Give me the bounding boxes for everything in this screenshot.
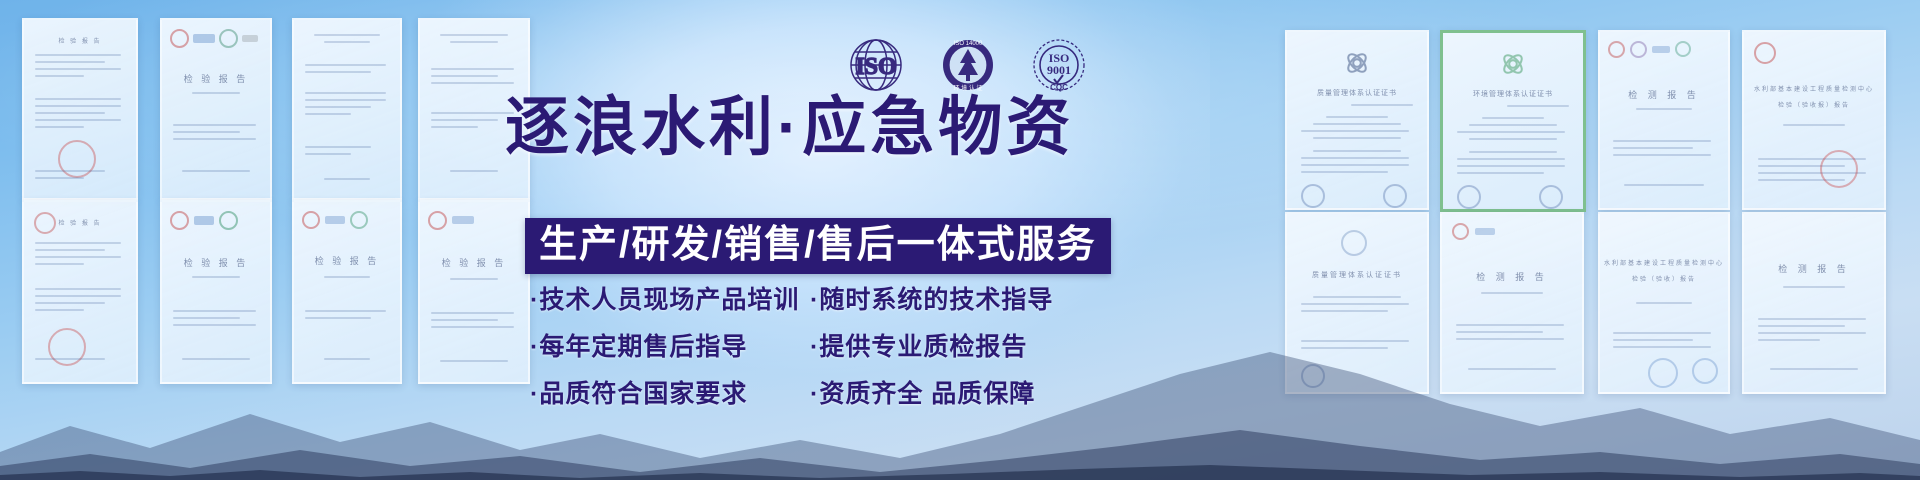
svg-text:ISO 14000: ISO 14000 (953, 41, 982, 47)
cert-thumb: 水利部基本建设工程质量检测中心 检验（验收）报告 (1598, 212, 1730, 394)
iso-globe-icon: ISO (845, 36, 907, 94)
banner-headline: 逐浪水利·应急物资 (505, 95, 1105, 159)
feature-item: ·提供专业质检报告 (810, 335, 1075, 360)
cert-thumb: 环境管理体系认证证书 (1440, 30, 1586, 212)
feature-list: ·技术人员现场产品培训 ·随时系统的技术指导 ·每年定期售后指导 ·提供专业质检… (530, 288, 1075, 407)
atom-logo-icon (1496, 47, 1530, 81)
cert-thumb: 检 验 报 告 (292, 200, 402, 384)
iso-globe-badge: ISO (845, 36, 907, 99)
atom-logo-icon (1340, 46, 1374, 80)
banner-subtitle-bar: 生产/研发/销售/售后一体式服务 (525, 218, 1111, 274)
cert-thumb: 水利部基本建设工程质量检测中心 检验（验收报）报告 (1742, 30, 1886, 210)
iso-9001-cqc-icon: ISO 9001 CQC (1028, 36, 1090, 94)
feature-item: ·每年定期售后指导 (530, 335, 810, 360)
feature-item: ·技术人员现场产品培训 (530, 288, 810, 313)
cert-thumb: 检 验 报 告 (22, 200, 138, 384)
cert-thumb: 检 验 报 告 (160, 18, 272, 200)
cert-thumb: 检 验 报 告 (418, 200, 530, 384)
cert-thumb: 检 验 报 告 (22, 18, 138, 200)
feature-item: ·品质符合国家要求 (530, 382, 810, 407)
iso-14000-environment-icon: ISO 14000 环 境 认 证 (937, 36, 999, 94)
feature-item: ·随时系统的技术指导 (810, 288, 1075, 313)
svg-text:ISO: ISO (855, 54, 896, 80)
cert-thumb: 检 验 报 告 (160, 200, 272, 384)
promo-banner: 检 验 报 告 检 验 报 告 (0, 0, 1920, 480)
cert-thumb: 检 测 报 告 (1598, 30, 1730, 210)
cert-thumb (292, 18, 402, 200)
cert-thumb: 检 测 报 告 (1440, 212, 1584, 394)
certification-badges: ISO ISO 14000 环 境 认 证 ISO 9001 CQC (845, 36, 1090, 98)
iso-9001-cqc-badge: ISO 9001 CQC (1028, 36, 1090, 99)
svg-text:9001: 9001 (1047, 63, 1071, 77)
feature-item: ·资质齐全 品质保障 (810, 382, 1075, 407)
cert-thumb: 质量管理体系认证证书 (1285, 212, 1429, 394)
cert-thumb: 检 测 报 告 (1742, 212, 1886, 394)
iso-14000-badge: ISO 14000 环 境 认 证 (937, 36, 999, 99)
cert-thumb: 质量管理体系认证证书 (1285, 30, 1429, 210)
